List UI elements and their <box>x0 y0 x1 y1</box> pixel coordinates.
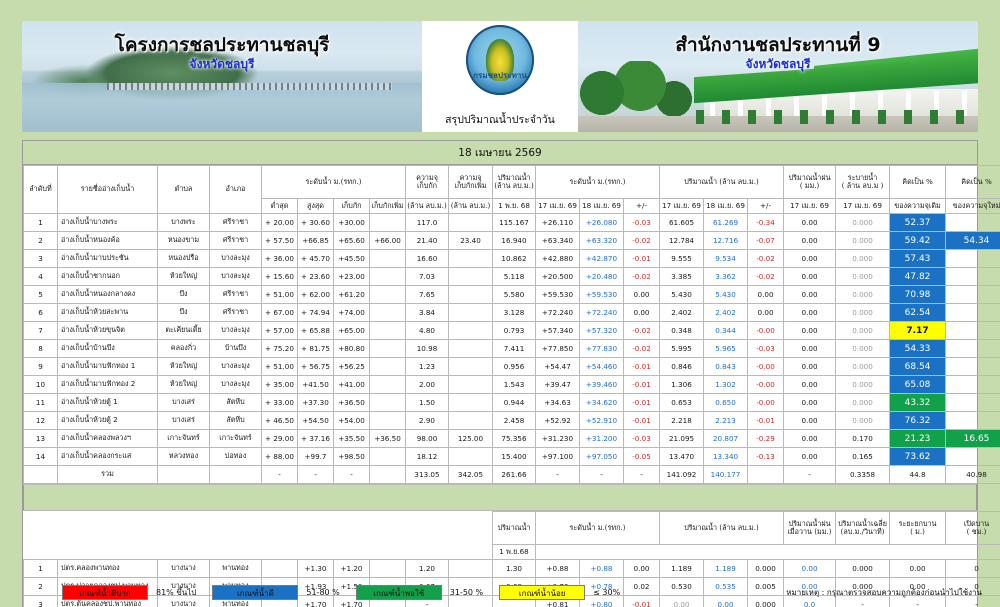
table-row[interactable]: 5อ่างเก็บน้ำหนองกลางดงบึงศรีราชา+ 51.00+… <box>24 286 1000 304</box>
th-vol-d2: 18 เม.ย. 69 <box>704 199 748 214</box>
cell-total-drain: 0.3358 <box>836 466 890 484</box>
cell-rain: 0.00 <box>784 268 836 286</box>
th-b-blank-6 <box>298 545 334 560</box>
cell-b-col6 <box>449 560 493 578</box>
cell-volume-diff: -0.00 <box>748 394 784 412</box>
cell-volume-nov: 0.793 <box>493 322 536 340</box>
cell-tambon: หนองปรือ <box>158 250 210 268</box>
cell-volume-diff: -0.00 <box>748 358 784 376</box>
cell-tambon: ห้วยใหญ่ <box>158 268 210 286</box>
th-b-blank-15 <box>704 545 748 560</box>
cell-wl-store: +54.00 <box>334 412 370 430</box>
th-level-group2: ระดับน้ำ ม.(รทก.) <box>536 166 660 199</box>
th-pct-old-sub: ของความจุเดิม <box>890 199 946 214</box>
cell-level-day1: +77.850 <box>536 340 580 358</box>
cell-amphoe: ศรีราชา <box>210 232 262 250</box>
cell-rain: 0.00 <box>784 214 836 232</box>
cell-wl-max: + 30.60 <box>298 214 334 232</box>
status-badge-pct-new <box>946 322 1000 340</box>
cell-rain: 0.00 <box>784 250 836 268</box>
th-b-blank-14 <box>660 545 704 560</box>
cell-level-day2: +72.240 <box>580 304 624 322</box>
status-badge-pct-new <box>946 340 1000 358</box>
cell-amphoe: ศรีราชา <box>210 304 262 322</box>
legend-chip-blue: เกณฑ์น้ำดี <box>212 585 298 600</box>
cell-capacity-extra <box>449 448 493 466</box>
cell-total-pct-old: 44.8 <box>890 466 946 484</box>
spacer-table <box>23 484 977 511</box>
cell-total-wl-extra <box>370 466 406 484</box>
th-b-blank-11 <box>536 545 580 560</box>
cell-drain: 0.000 <box>836 268 890 286</box>
cell-volume-day1: 0.348 <box>660 322 704 340</box>
cell-capacity-extra <box>449 322 493 340</box>
cell-b-volume-nov: 1.30 <box>493 560 536 578</box>
cell-no: 4 <box>24 268 58 286</box>
cell-no: 6 <box>24 304 58 322</box>
cell-capacity: 21.40 <box>406 232 449 250</box>
cell-wl-max: + 45.70 <box>298 250 334 268</box>
cell-level-day1: +39.47 <box>536 376 580 394</box>
cell-level-diff: 0.00 <box>624 304 660 322</box>
cell-wl-store-extra <box>370 250 406 268</box>
cell-level-day1: +20.500 <box>536 268 580 286</box>
th-pct-new: คิดเป็น % <box>946 166 1000 199</box>
cell-level-day1: +34.63 <box>536 394 580 412</box>
cell-volume-day2: 0.843 <box>704 358 748 376</box>
cell-no: 8 <box>24 340 58 358</box>
th-b-level-group: ระดับน้ำ ม.(รทก.) <box>536 512 660 545</box>
cell-total-level-day1: - <box>536 466 580 484</box>
status-badge-pct-old: 54.33 <box>890 340 946 358</box>
cell-drain: 0.000 <box>836 232 890 250</box>
cell-total-amphoe <box>210 466 262 484</box>
cell-amphoe: ศรีราชา <box>210 214 262 232</box>
cell-amphoe: บางละมุง <box>210 322 262 340</box>
th-blank-1 <box>24 512 58 545</box>
legend-items: เกณฑ์น้ำดีมาก81% ขึ้นไปเกณฑ์น้ำดี51-80 %… <box>62 585 636 600</box>
cell-capacity: 7.65 <box>406 286 449 304</box>
th-blank-6 <box>298 512 334 545</box>
table-row[interactable]: 10อ่างเก็บน้ำมาบฟักทอง 2ห้วยใหญ่บางละมุง… <box>24 376 1000 394</box>
status-badge-pct-old: 59.42 <box>890 232 946 250</box>
cell-no: 2 <box>24 232 58 250</box>
status-badge-pct-new <box>946 250 1000 268</box>
cell-drain: 0.000 <box>836 286 890 304</box>
cell-wl-max: + 37.16 <box>298 430 334 448</box>
cell-station-name: ปตร.คลองพานทอง <box>58 560 158 578</box>
cell-rain: 0.00 <box>784 232 836 250</box>
cell-wl-min: + 67.00 <box>262 304 298 322</box>
cell-reservoir-name: อ่างเก็บน้ำห้วยขุนจิต <box>58 322 158 340</box>
cell-wl-store-extra <box>370 286 406 304</box>
footnote: หมายเหตุ : กรุณาตรวจสอบความถูกต้องก่อนนำ… <box>786 586 982 599</box>
cell-wl-store: +23.00 <box>334 268 370 286</box>
cell-wl-store-extra <box>370 358 406 376</box>
cell-b-col3: +1.20 <box>334 560 370 578</box>
emblem-caption: สรุปปริมาณน้ำประจำวัน <box>445 111 555 128</box>
cell-wl-store: +80.80 <box>334 340 370 358</box>
th-b-volume-group: ปริมาณน้ำ (ล้าน ลบ.ม.) <box>660 512 784 545</box>
cell-tambon: ตะเคียนเตี้ย <box>158 322 210 340</box>
header-banner: โครงการชลประทานชลบุรี จังหวัดชลบุรี กรมช… <box>22 21 978 132</box>
cell-wl-store: +30.00 <box>334 214 370 232</box>
status-badge-pct-old: 21.23 <box>890 430 946 448</box>
cell-amphoe: ศรีราชา <box>210 286 262 304</box>
th-b-blank-19 <box>890 545 946 560</box>
cell-wl-max: + 74.94 <box>298 304 334 322</box>
status-badge-pct-new <box>946 286 1000 304</box>
cell-total-pct-new: 40.98 <box>946 466 1000 484</box>
cell-wl-min: + 33.00 <box>262 394 298 412</box>
cell-drain: 0.000 <box>836 304 890 322</box>
cell-volume-day1: 5.995 <box>660 340 704 358</box>
report-sheet: 18 เมษายน 2569 ลำดับที่ รายชื่ออ่างเก็บน… <box>22 140 978 607</box>
cell-wl-store: +61.20 <box>334 286 370 304</box>
status-badge-pct-new <box>946 394 1000 412</box>
cell-wl-min: + 35.00 <box>262 376 298 394</box>
cell-wl-min: + 15.60 <box>262 268 298 286</box>
th-blank-9 <box>406 512 449 545</box>
cell-b-gate-lift: 0.00 <box>890 560 946 578</box>
th-b-blank-5 <box>262 545 298 560</box>
cell-level-diff: -0.03 <box>624 430 660 448</box>
th-reservoir: รายชื่ออ่างเก็บน้ำ <box>58 166 158 214</box>
cell-total-capacity: 313.05 <box>406 466 449 484</box>
cell-level-day2: +34.620 <box>580 394 624 412</box>
cell-wl-min: + 36.00 <box>262 250 298 268</box>
cell-wl-store-extra <box>370 304 406 322</box>
status-badge-pct-old: 70.98 <box>890 286 946 304</box>
cell-wl-max: +99.7 <box>298 448 334 466</box>
cell-capacity: 98.00 <box>406 430 449 448</box>
cell-b-volume-diff: 0.000 <box>748 560 784 578</box>
cell-tambon: บึง <box>158 286 210 304</box>
cell-level-day2: +20.480 <box>580 268 624 286</box>
th-pct-old: คิดเป็น % <box>890 166 946 199</box>
th-lvl-d2: 18 เม.ย. 69 <box>580 199 624 214</box>
cell-volume-diff: -0.01 <box>748 412 784 430</box>
cell-wl-max: +37.30 <box>298 394 334 412</box>
cell-wl-max: +41.50 <box>298 376 334 394</box>
cell-wl-store: +65.60 <box>334 232 370 250</box>
cell-drain: 0.000 <box>836 340 890 358</box>
table-row[interactable]: 1ปตร.คลองพานทองบางนางพานทอง+1.30+1.201.2… <box>24 560 1000 578</box>
cell-wl-max: + 81.75 <box>298 340 334 358</box>
cell-no: 1 <box>24 214 58 232</box>
cell-volume-nov: 15.400 <box>493 448 536 466</box>
banner-center-emblem: กรมชลประทาน สรุปปริมาณน้ำประจำวัน <box>422 21 578 132</box>
table-row[interactable]: 6อ่างเก็บน้ำห้วยสะพานบึงศรีราชา+ 67.00+ … <box>24 304 1000 322</box>
table-row[interactable]: 3อ่างเก็บน้ำมาบประชันหนองปรือบางละมุง+ 3… <box>24 250 1000 268</box>
th-b-blank-8 <box>370 545 406 560</box>
cell-volume-diff: 0.00 <box>748 304 784 322</box>
status-badge-pct-old: 52.37 <box>890 214 946 232</box>
cell-no: 9 <box>24 358 58 376</box>
cell-level-diff: -0.02 <box>624 340 660 358</box>
cell-level-day2: +57.320 <box>580 322 624 340</box>
cell-volume-day2: 0.344 <box>704 322 748 340</box>
cell-wl-store: +74.00 <box>334 304 370 322</box>
th-b-gate-open: เปิดบาน( ชม.) <box>946 512 1000 545</box>
cell-volume-day2: 13.340 <box>704 448 748 466</box>
cell-wl-min: + 88.00 <box>262 448 298 466</box>
th-b-rain-yesterday: ปริมาณน้ำฝนเมื่อวาน (มม.) <box>784 512 836 545</box>
status-badge-pct-old: 7.17 <box>890 322 946 340</box>
th-b-gate-lift: ระยะยกบาน( ม.) <box>890 512 946 545</box>
cell-volume-diff: -0.07 <box>748 232 784 250</box>
cell-reservoir-name: อ่างเก็บน้ำหนองกลางดง <box>58 286 158 304</box>
cell-volume-nov: 115.167 <box>493 214 536 232</box>
cell-reservoir-name: อ่างเก็บน้ำคลองกระแส <box>58 448 158 466</box>
cell-b-col4 <box>370 560 406 578</box>
cell-no: 14 <box>24 448 58 466</box>
cell-tambon: บางเสร่ <box>158 394 210 412</box>
cell-volume-diff: -0.03 <box>748 340 784 358</box>
cell-amphoe: สัตหีบ <box>210 394 262 412</box>
cell-amphoe: สัตหีบ <box>210 412 262 430</box>
status-badge-pct-new: 54.34 <box>946 232 1000 250</box>
th-drain: ระบายน้ำ( ล้าน ลบ.ม ) <box>836 166 890 199</box>
cell-drain: 0.000 <box>836 322 890 340</box>
status-badge-pct-old: 65.08 <box>890 376 946 394</box>
cell-capacity-extra <box>449 376 493 394</box>
cell-volume-day2: 5.430 <box>704 286 748 304</box>
th-wl-min: ต่ำสุด <box>262 199 298 214</box>
th-b-vol-nov: 1 พ.ย.68 <box>493 545 536 560</box>
cell-b-avg-flow: 0.000 <box>836 560 890 578</box>
th-vol-d1: 17 เม.ย. 69 <box>660 199 704 214</box>
cell-volume-diff: -0.13 <box>748 448 784 466</box>
cell-wl-store: +98.50 <box>334 448 370 466</box>
cell-rain: 0.00 <box>784 286 836 304</box>
th-lvl-d1: 17 เม.ย. 69 <box>536 199 580 214</box>
cell-volume-day1: 3.385 <box>660 268 704 286</box>
cell-wl-max: +66.85 <box>298 232 334 250</box>
cell-rain: 0.00 <box>784 376 836 394</box>
table-row[interactable]: 7อ่างเก็บน้ำห้วยขุนจิตตะเคียนเตี้ยบางละม… <box>24 322 1000 340</box>
th-b-blank-3 <box>158 545 210 560</box>
table-row[interactable]: 12อ่างเก็บน้ำห้วยตู้ 2บางเสร่สัตหีบ+ 46.… <box>24 412 1000 430</box>
cell-total-wl-min: - <box>262 466 298 484</box>
cell-level-day1: +57.340 <box>536 322 580 340</box>
cell-drain: 0.170 <box>836 430 890 448</box>
cell-volume-nov: 0.956 <box>493 358 536 376</box>
total-row: รวม---313.05342.05261.66---141.092140.17… <box>24 466 1000 484</box>
cell-b-level-diff: 0.00 <box>624 560 660 578</box>
th-no: ลำดับที่ <box>24 166 58 214</box>
cell-b-rain-yesterday: 0.00 <box>784 560 836 578</box>
th-b-blank-17 <box>784 545 836 560</box>
table-row[interactable]: 9อ่างเก็บน้ำมาบฟักทอง 1ห้วยใหญ่บางละมุง+… <box>24 358 1000 376</box>
cell-level-day1: +63.340 <box>536 232 580 250</box>
cell-volume-diff: -0.00 <box>748 322 784 340</box>
th-volume: ปริมาณน้ำ(ล้าน ลบ.ม.) <box>493 166 536 199</box>
banner-left-subtitle: จังหวัดชลบุรี <box>22 55 422 74</box>
cell-wl-min: + 57.50 <box>262 232 298 250</box>
status-badge-pct-old: 47.82 <box>890 268 946 286</box>
cell-volume-day2: 9.534 <box>704 250 748 268</box>
table-row[interactable]: 11อ่างเก็บน้ำห้วยตู้ 1บางเสร่สัตหีบ+ 33.… <box>24 394 1000 412</box>
th-b-blank-12 <box>580 545 624 560</box>
th-b-blank-16 <box>748 545 784 560</box>
cell-capacity-extra <box>449 394 493 412</box>
table-row[interactable]: 2อ่างเก็บน้ำหนองค้อหนองขามศรีราชา+ 57.50… <box>24 232 1000 250</box>
cell-amphoe: พานทอง <box>210 560 262 578</box>
cell-drain: 0.000 <box>836 358 890 376</box>
cell-capacity-extra: 125.00 <box>449 430 493 448</box>
cell-volume-day2: 0.650 <box>704 394 748 412</box>
cell-reservoir-name: อ่างเก็บน้ำมาบประชัน <box>58 250 158 268</box>
cell-capacity: 4.80 <box>406 322 449 340</box>
cell-tambon: บางพระ <box>158 214 210 232</box>
cell-reservoir-name: อ่างเก็บน้ำมาบฟักทอง 2 <box>58 376 158 394</box>
status-badge-pct-old: 57.43 <box>890 250 946 268</box>
cell-level-diff: -0.01 <box>624 394 660 412</box>
cell-total-blank <box>24 466 58 484</box>
cell-wl-min: + 75.20 <box>262 340 298 358</box>
cell-drain: 0.000 <box>836 394 890 412</box>
cell-wl-store-extra <box>370 448 406 466</box>
cell-total-volume-day1: 141.092 <box>660 466 704 484</box>
cell-capacity-extra <box>449 250 493 268</box>
cell-reservoir-name: อ่างเก็บน้ำมาบฟักทอง 1 <box>58 358 158 376</box>
cell-reservoir-name: อ่างเก็บน้ำบ้านบึง <box>58 340 158 358</box>
th-b-blank-20 <box>946 545 1000 560</box>
cell-b-col5: 1.20 <box>406 560 449 578</box>
status-badge-pct-new <box>946 448 1000 466</box>
emblem-arc-text: กรมชลประทาน <box>466 69 534 107</box>
th-b-blank-18 <box>836 545 890 560</box>
legend-chip-green: เกณฑ์น้ำพอใช้ <box>356 585 442 600</box>
status-badge-pct-new <box>946 214 1000 232</box>
cell-level-day2: +59.530 <box>580 286 624 304</box>
cell-volume-diff: -0.00 <box>748 376 784 394</box>
status-badge-pct-new <box>946 358 1000 376</box>
cell-level-day1: +42.880 <box>536 250 580 268</box>
cell-rain: 0.00 <box>784 394 836 412</box>
cell-total-rain: - <box>784 466 836 484</box>
cell-wl-store-extra: +66.00 <box>370 232 406 250</box>
status-badge-pct-old: 68.54 <box>890 358 946 376</box>
cell-wl-min: + 46.50 <box>262 412 298 430</box>
cell-reservoir-name: อ่างเก็บน้ำคลองพลวงฯ <box>58 430 158 448</box>
cell-b-level-day1: +0.88 <box>536 560 580 578</box>
cell-wl-store-extra <box>370 376 406 394</box>
cell-volume-day1: 5.430 <box>660 286 704 304</box>
cell-total-level-day2: - <box>580 466 624 484</box>
cell-level-day2: +97.050 <box>580 448 624 466</box>
legend-note-red: 81% ขึ้นไป <box>156 586 196 599</box>
cell-tambon: ห้วยใหญ่ <box>158 358 210 376</box>
table-row[interactable]: 4อ่างเก็บน้ำชากนอกห้วยใหญ่บางละมุง+ 15.6… <box>24 268 1000 286</box>
cell-level-day2: +52.910 <box>580 412 624 430</box>
cell-volume-diff: -0.02 <box>748 268 784 286</box>
status-badge-pct-old: 73.62 <box>890 448 946 466</box>
cell-drain: 0.000 <box>836 214 890 232</box>
cell-level-day1: +31.230 <box>536 430 580 448</box>
cell-tambon: คลองกิ่ว <box>158 340 210 358</box>
status-badge-pct-old: 76.32 <box>890 412 946 430</box>
cell-level-day2: +39.460 <box>580 376 624 394</box>
th-blank-5 <box>262 512 298 545</box>
cell-capacity-extra <box>449 304 493 322</box>
cell-level-day2: +63.320 <box>580 232 624 250</box>
table-row[interactable]: 8อ่างเก็บน้ำบ้านบึงคลองกิ่วบ้านบึง+ 75.2… <box>24 340 1000 358</box>
status-badge-pct-new <box>946 376 1000 394</box>
cell-reservoir-name: อ่างเก็บน้ำชากนอก <box>58 268 158 286</box>
cell-volume-nov: 75.356 <box>493 430 536 448</box>
cell-level-day1: +26.110 <box>536 214 580 232</box>
cell-volume-day1: 12.784 <box>660 232 704 250</box>
cell-wl-store-extra <box>370 268 406 286</box>
cell-capacity-extra <box>449 286 493 304</box>
cell-volume-day1: 21.095 <box>660 430 704 448</box>
cell-rain: 0.00 <box>784 322 836 340</box>
status-badge-pct-old: 43.32 <box>890 394 946 412</box>
cell-wl-max: +54.50 <box>298 412 334 430</box>
cell-b-level-day2: +0.88 <box>580 560 624 578</box>
cell-volume-day1: 0.653 <box>660 394 704 412</box>
pier-decoration <box>107 83 392 90</box>
cell-level-diff: -0.02 <box>624 322 660 340</box>
cell-volume-day2: 20.807 <box>704 430 748 448</box>
legend-chip-yellow: เกณฑ์น้ำน้อย <box>499 585 585 600</box>
cell-reservoir-name: อ่างเก็บน้ำบางพระ <box>58 214 158 232</box>
cell-wl-min: + 20.00 <box>262 214 298 232</box>
cell-level-day2: +42.870 <box>580 250 624 268</box>
cell-total-wl-store: - <box>334 466 370 484</box>
table-row[interactable]: 1อ่างเก็บน้ำบางพระบางพระศรีราชา+ 20.00+ … <box>24 214 1000 232</box>
cell-b-col2: +1.30 <box>298 560 334 578</box>
cell-wl-store-extra: +36.50 <box>370 430 406 448</box>
th-cap-extra-unit: (ล้าน ลบ.ม.) <box>449 199 493 214</box>
cell-level-day1: +59.530 <box>536 286 580 304</box>
cell-volume-nov: 16.940 <box>493 232 536 250</box>
th-blank-10 <box>449 512 493 545</box>
cell-volume-day2: 61.269 <box>704 214 748 232</box>
cell-level-day2: +54.460 <box>580 358 624 376</box>
cell-volume-day1: 61.605 <box>660 214 704 232</box>
cell-wl-min: + 51.00 <box>262 286 298 304</box>
cell-wl-min: + 57.00 <box>262 322 298 340</box>
cell-volume-diff: -0.34 <box>748 214 784 232</box>
status-badge-pct-old: 62.54 <box>890 304 946 322</box>
cell-no: 5 <box>24 286 58 304</box>
th-b-avg-flow: ปริมาณน้ำเฉลี่ย(ลบ.ม./วินาที) <box>836 512 890 545</box>
cell-b-col1 <box>262 560 298 578</box>
cell-volume-nov: 2.458 <box>493 412 536 430</box>
th-drain-date: 17 เม.ย. 69 <box>836 199 890 214</box>
cell-level-diff: -0.02 <box>624 232 660 250</box>
reservoir-table-body: 1อ่างเก็บน้ำบางพระบางพระศรีราชา+ 20.00+ … <box>24 214 1000 484</box>
table-row[interactable]: 14อ่างเก็บน้ำคลองกระแสหลวงทองบ่อทอง+ 88.… <box>24 448 1000 466</box>
cell-volume-day1: 2.218 <box>660 412 704 430</box>
cell-tambon: บางนาง <box>158 560 210 578</box>
table-row[interactable]: 13อ่างเก็บน้ำคลองพลวงฯเกาะจันทร์เกาะจันท… <box>24 430 1000 448</box>
cell-tambon: หลวงทอง <box>158 448 210 466</box>
cell-volume-diff: -0.29 <box>748 430 784 448</box>
cell-tambon: หนองขาม <box>158 232 210 250</box>
royal-irrigation-emblem-icon: กรมชลประทาน <box>464 25 536 109</box>
cell-wl-store-extra <box>370 214 406 232</box>
th-b-blank-13 <box>624 545 660 560</box>
cell-capacity: 10.98 <box>406 340 449 358</box>
cell-rain: 0.00 <box>784 304 836 322</box>
cell-capacity-extra <box>449 214 493 232</box>
cell-reservoir-name: อ่างเก็บน้ำห้วยตู้ 1 <box>58 394 158 412</box>
cell-level-day2: +77.830 <box>580 340 624 358</box>
